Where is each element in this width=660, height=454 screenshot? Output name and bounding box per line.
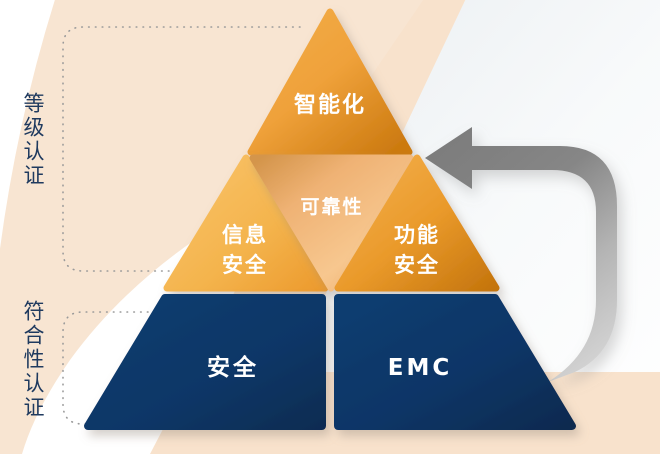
- pyramid-diagram-svg: 智能化 信息 安全 可靠性 功能 安全 安全 EMC: [0, 0, 660, 454]
- block-information-security-label-line2: 安全: [222, 253, 268, 277]
- block-emc-label: EMC: [388, 355, 452, 381]
- block-information-security-label-line1: 信息: [222, 223, 268, 247]
- diagram-canvas: 智能化 信息 安全 可靠性 功能 安全 安全 EMC 等级认证 符合性认证: [0, 0, 660, 454]
- block-functional-safety-label-line2: 安全: [394, 253, 440, 277]
- side-label-compliance-certification: 符合性认证: [22, 300, 43, 420]
- side-label-grade-certification: 等级认证: [22, 92, 43, 188]
- block-reliability-label: 可靠性: [300, 195, 363, 218]
- block-intelligent-label: 智能化: [294, 92, 366, 118]
- block-safety-label: 安全: [207, 354, 259, 381]
- block-functional-safety-label-line1: 功能: [394, 223, 440, 247]
